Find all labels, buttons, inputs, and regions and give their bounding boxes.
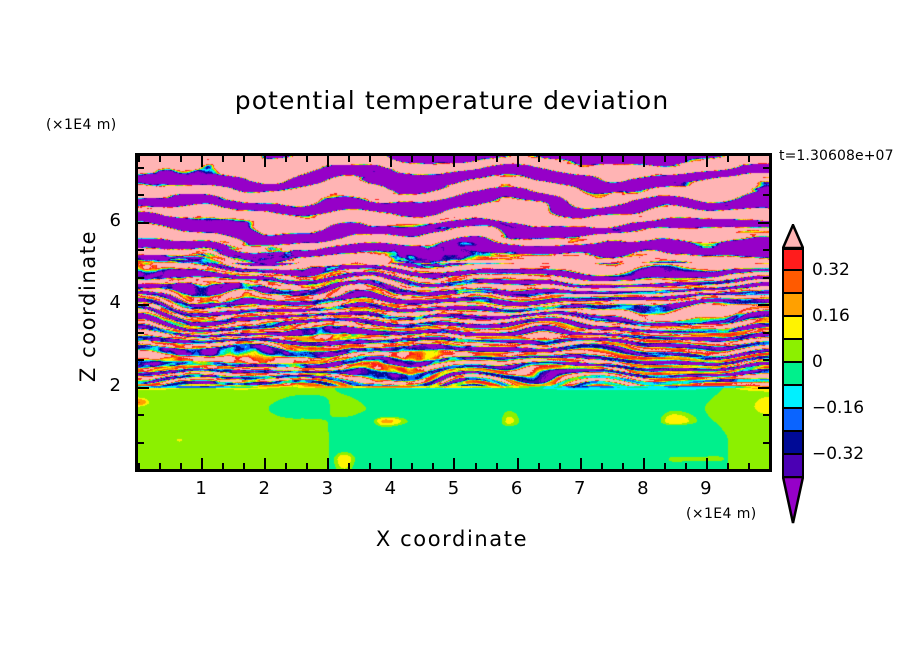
y-tick-label: 6 [81, 210, 121, 231]
colorbar-band [782, 409, 804, 432]
x-major-tick [706, 458, 708, 469]
colorbar-band [782, 317, 804, 340]
x-minor-tick-top [601, 156, 603, 162]
x-major-tick [201, 458, 203, 469]
x-major-tick [517, 458, 519, 469]
x-minor-tick-top [306, 156, 308, 162]
x-minor-tick [243, 463, 245, 469]
y-minor-tick-right [763, 332, 769, 334]
x-tick-label: 8 [623, 478, 663, 499]
x-tick-label: 7 [560, 478, 600, 499]
colorbar-tick-label: −0.16 [812, 398, 864, 418]
x-minor-tick-top [727, 156, 729, 162]
colorbar-band [782, 248, 804, 271]
y-major-tick [138, 304, 149, 306]
x-minor-tick-top [432, 156, 434, 162]
x-axis-title: X coordinate [0, 527, 904, 551]
colorbar-band [782, 455, 804, 478]
x-minor-tick [306, 463, 308, 469]
y-minor-tick [138, 414, 144, 416]
colorbar-cap-top [782, 224, 804, 249]
x-minor-tick-top [475, 156, 477, 162]
x-major-tick-top [327, 156, 329, 167]
colorbar-tick-label: 0.16 [812, 306, 850, 326]
y-minor-tick [138, 359, 144, 361]
colorbar-cap-bottom [782, 476, 804, 524]
y-minor-tick [138, 167, 144, 169]
x-minor-tick [180, 463, 182, 469]
colorbar-tick-label: 0 [812, 352, 823, 372]
y-minor-tick [138, 442, 144, 444]
x-minor-tick-top [180, 156, 182, 162]
x-minor-tick-top [222, 156, 224, 162]
x-minor-tick-top [159, 156, 161, 162]
x-tick-label: 1 [181, 478, 221, 499]
x-major-tick-top [706, 156, 708, 167]
x-minor-tick-top [685, 156, 687, 162]
x-tick-label: 3 [307, 478, 347, 499]
y-minor-tick [138, 249, 144, 251]
x-tick-label: 6 [497, 478, 537, 499]
y-minor-tick-right [763, 469, 769, 471]
x-major-tick [453, 458, 455, 469]
colorbar-band [782, 363, 804, 386]
x-major-tick-top [643, 156, 645, 167]
x-minor-tick [622, 463, 624, 469]
x-minor-tick [285, 463, 287, 469]
x-minor-tick [601, 463, 603, 469]
contour-field-canvas [138, 156, 769, 469]
x-minor-tick [159, 463, 161, 469]
y-minor-tick-right [763, 359, 769, 361]
x-major-tick [327, 458, 329, 469]
colorbar-band [782, 271, 804, 294]
colorbar-band [782, 294, 804, 317]
y-minor-tick-right [763, 249, 769, 251]
x-minor-tick-top [769, 156, 771, 162]
x-minor-tick-top [243, 156, 245, 162]
x-tick-label: 5 [434, 478, 474, 499]
timestamp-label: t=1.30608e+07 [779, 148, 894, 164]
x-minor-tick [411, 463, 413, 469]
colorbar-band [782, 432, 804, 455]
y-minor-tick-right [763, 442, 769, 444]
y-axis-unit-label: (×1E4 m) [46, 117, 117, 133]
x-minor-tick [475, 463, 477, 469]
x-minor-tick-top [748, 156, 750, 162]
x-major-tick-top [264, 156, 266, 167]
x-major-tick [643, 458, 645, 469]
y-minor-tick-right [763, 194, 769, 196]
x-minor-tick-top [622, 156, 624, 162]
y-minor-tick-right [763, 414, 769, 416]
colorbar-tick-label: −0.32 [812, 444, 864, 464]
x-major-tick-top [390, 156, 392, 167]
x-minor-tick-top [138, 156, 140, 162]
colorbar-tick-label: 0.32 [812, 260, 850, 280]
colorbar-band [782, 386, 804, 409]
y-minor-tick [138, 194, 144, 196]
x-minor-tick-top [538, 156, 540, 162]
x-minor-tick-top [411, 156, 413, 162]
y-minor-tick [138, 277, 144, 279]
x-minor-tick [222, 463, 224, 469]
x-minor-tick [664, 463, 666, 469]
colorbar [782, 248, 804, 478]
x-tick-label: 9 [686, 478, 726, 499]
x-minor-tick [685, 463, 687, 469]
y-minor-tick-right [763, 277, 769, 279]
x-minor-tick [348, 463, 350, 469]
y-major-tick-right [758, 387, 769, 389]
y-major-tick [138, 222, 149, 224]
y-minor-tick [138, 332, 144, 334]
y-minor-tick-right [763, 167, 769, 169]
x-minor-tick [369, 463, 371, 469]
x-minor-tick [496, 463, 498, 469]
x-major-tick [580, 458, 582, 469]
x-tick-label: 4 [370, 478, 410, 499]
x-major-tick-top [580, 156, 582, 167]
x-minor-tick-top [369, 156, 371, 162]
y-tick-label: 2 [81, 375, 121, 396]
x-minor-tick [769, 463, 771, 469]
x-minor-tick [748, 463, 750, 469]
x-major-tick-top [517, 156, 519, 167]
x-minor-tick-top [664, 156, 666, 162]
x-minor-tick [432, 463, 434, 469]
x-minor-tick [538, 463, 540, 469]
colorbar-band [782, 340, 804, 363]
x-tick-label: 2 [244, 478, 284, 499]
x-minor-tick-top [496, 156, 498, 162]
x-minor-tick [559, 463, 561, 469]
x-minor-tick [727, 463, 729, 469]
x-major-tick [264, 458, 266, 469]
x-major-tick-top [201, 156, 203, 167]
y-tick-label: 4 [81, 292, 121, 313]
y-major-tick-right [758, 304, 769, 306]
x-minor-tick-top [559, 156, 561, 162]
x-minor-tick-top [285, 156, 287, 162]
contour-plot-frame [135, 153, 772, 472]
y-major-tick-right [758, 222, 769, 224]
page-title: potential temperature deviation [0, 86, 904, 115]
x-major-tick-top [453, 156, 455, 167]
y-minor-tick [138, 469, 144, 471]
x-minor-tick-top [348, 156, 350, 162]
x-major-tick [390, 458, 392, 469]
y-major-tick [138, 387, 149, 389]
x-axis-unit-label: (×1E4 m) [686, 506, 757, 522]
